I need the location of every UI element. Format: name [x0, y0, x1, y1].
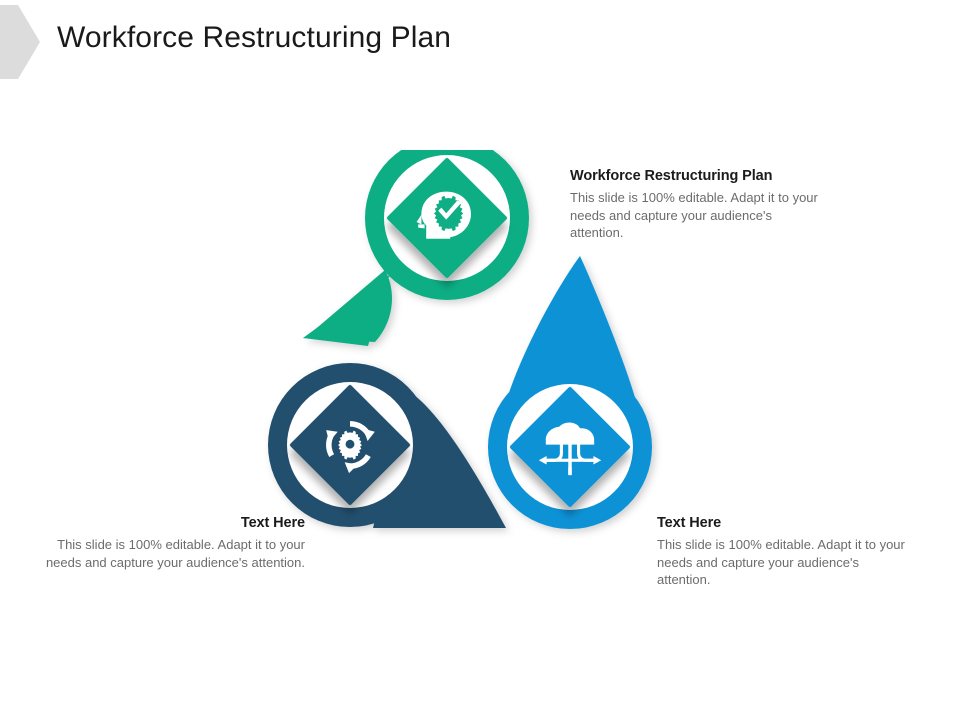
- page-title: Workforce Restructuring Plan: [57, 21, 451, 55]
- text-block-bottom-right: Text Here This slide is 100% editable. A…: [657, 515, 947, 589]
- text-block-bottom-left-title: Text Here: [20, 515, 305, 531]
- text-block-top-right: Workforce Restructuring Plan This slide …: [570, 168, 860, 242]
- text-block-bottom-right-body: This slide is 100% editable. Adapt it to…: [657, 536, 915, 589]
- text-block-bottom-left: Text Here This slide is 100% editable. A…: [20, 515, 305, 571]
- diagram-node-navy[interactable]: [268, 363, 506, 528]
- text-block-top-right-title: Workforce Restructuring Plan: [570, 168, 860, 184]
- text-block-top-right-body: This slide is 100% editable. Adapt it to…: [570, 189, 828, 242]
- text-block-bottom-left-body: This slide is 100% editable. Adapt it to…: [20, 536, 305, 571]
- slide-canvas: Workforce Restructuring Plan: [0, 0, 960, 720]
- header-arrow-decoration: [0, 5, 40, 79]
- text-block-bottom-right-title: Text Here: [657, 515, 947, 531]
